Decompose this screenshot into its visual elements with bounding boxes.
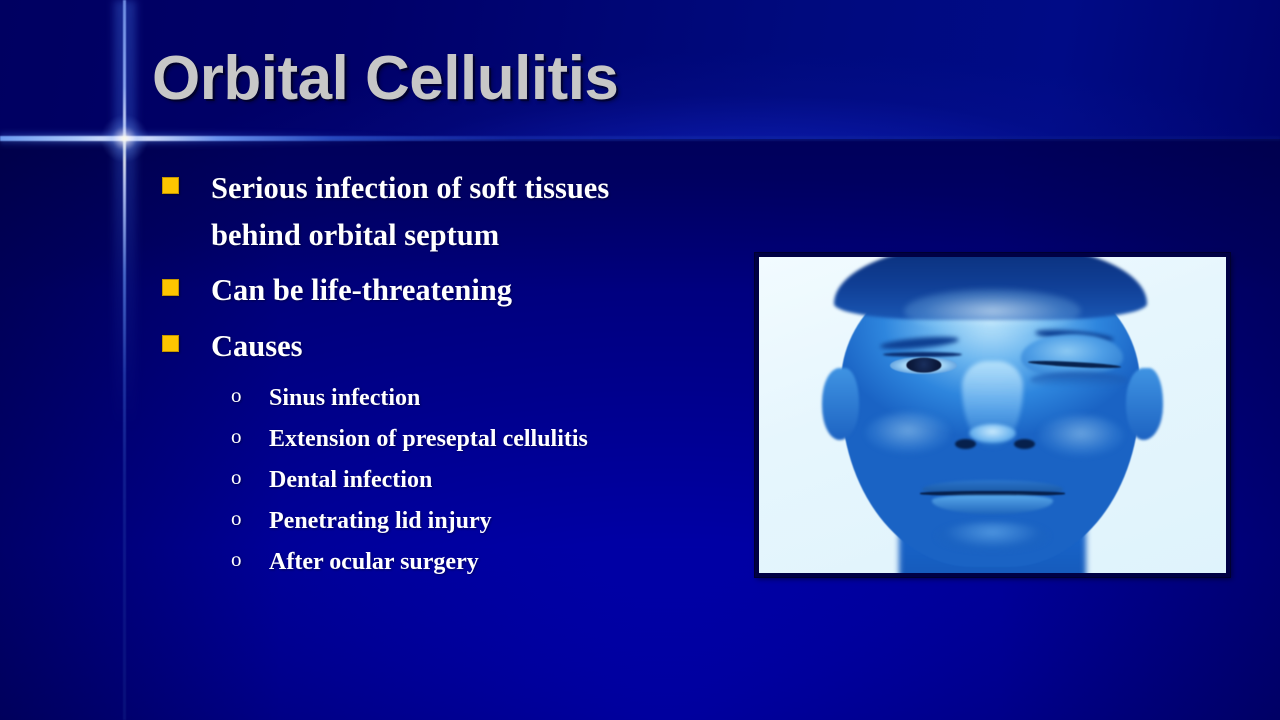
presentation-slide: Orbital Cellulitis Serious infection of …: [0, 0, 1280, 720]
sub-list-item-label: Dental infection: [269, 467, 432, 493]
sub-bullet-list: o Sinus infection o Extension of presept…: [158, 380, 678, 580]
sub-list-item: o Sinus infection: [158, 380, 678, 416]
sub-list-item-label: Sinus infection: [269, 385, 420, 411]
circle-bullet-icon: o: [231, 544, 242, 576]
left-margin-line: [123, 0, 126, 720]
list-item-label: Serious infection of soft tissues behind…: [211, 171, 609, 252]
normal-eye: [890, 357, 958, 374]
sub-list-item: o After ocular surgery: [158, 544, 678, 580]
list-item: Serious infection of soft tissues behind…: [158, 165, 678, 258]
swollen-eyelid: [1021, 334, 1124, 377]
list-item: Causes: [158, 323, 678, 370]
list-item: Can be life-threatening: [158, 267, 678, 314]
page-title: Orbital Cellulitis: [152, 48, 618, 110]
bullet-list: Serious infection of soft tissues behind…: [158, 165, 678, 585]
circle-bullet-icon: o: [231, 421, 242, 453]
list-item-label: Can be life-threatening: [211, 273, 512, 307]
square-bullet-icon: [162, 279, 179, 296]
list-item-label: Causes: [211, 329, 303, 363]
sub-list-item-label: After ocular surgery: [269, 549, 479, 575]
sub-list-item: o Penetrating lid injury: [158, 503, 678, 539]
circle-bullet-icon: o: [231, 462, 242, 494]
cross-starburst-icon: [101, 115, 148, 162]
sub-list-item-label: Extension of preseptal cellulitis: [269, 426, 588, 452]
sub-list-item: o Extension of preseptal cellulitis: [158, 421, 678, 457]
sub-list-item: o Dental infection: [158, 462, 678, 498]
title-underline: [0, 136, 1280, 141]
sub-list-item-label: Penetrating lid injury: [269, 508, 492, 534]
clinical-photo-orbital-cellulitis: [759, 257, 1226, 573]
square-bullet-icon: [162, 177, 179, 194]
circle-bullet-icon: o: [231, 380, 242, 412]
clinical-photo-frame: [755, 253, 1230, 577]
square-bullet-icon: [162, 335, 179, 352]
circle-bullet-icon: o: [231, 503, 242, 535]
